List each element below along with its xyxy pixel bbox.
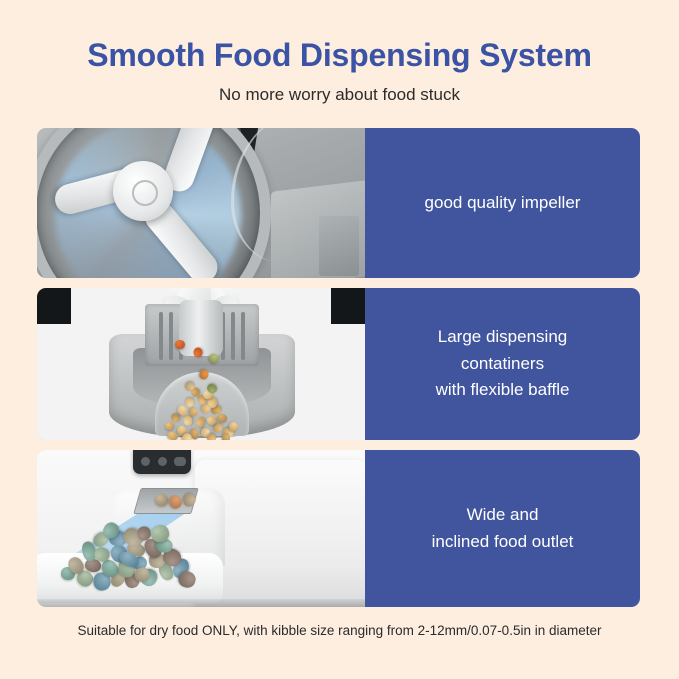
feature-caption-text: Large dispensing contatiners with flexib… — [436, 324, 570, 403]
kibble-piece — [216, 413, 227, 423]
feature-caption-panel: Wide and inclined food outlet — [365, 450, 640, 607]
feature-card-list: good quality impeller Large dis — [37, 128, 640, 617]
dark-corner-shape — [331, 288, 365, 324]
kibble-pile — [161, 388, 243, 440]
header: Smooth Food Dispensing System No more wo… — [0, 0, 679, 106]
center-cylinder-shape — [179, 300, 223, 356]
housing-panel-secondary-shape — [319, 216, 359, 276]
base-shadow — [37, 599, 365, 607]
feature-caption-text: Wide and inclined food outlet — [432, 502, 574, 555]
kibble-piece — [165, 422, 174, 430]
footer-note: Suitable for dry food ONLY, with kibble … — [0, 622, 679, 640]
dispensing-container-photo — [37, 288, 365, 440]
feature-card: Wide and inclined food outlet — [37, 450, 640, 607]
impeller-hub — [113, 161, 173, 221]
feature-caption-text: good quality impeller — [425, 190, 581, 216]
infographic-page: Smooth Food Dispensing System No more wo… — [0, 0, 679, 679]
kibble-piece — [222, 433, 231, 440]
chute-kibble-piece — [155, 494, 168, 506]
dark-corner-shape — [37, 288, 71, 324]
feature-caption-panel: good quality impeller — [365, 128, 640, 278]
feature-card: Large dispensing contatiners with flexib… — [37, 288, 640, 440]
kibble-piece — [189, 407, 198, 417]
impeller-photo — [37, 128, 365, 278]
control-panel-icon — [133, 450, 191, 474]
kibble-piece — [206, 433, 216, 440]
page-title: Smooth Food Dispensing System — [0, 38, 679, 73]
feature-card: good quality impeller — [37, 128, 640, 278]
food-outlet-photo — [37, 450, 365, 607]
feature-caption-panel: Large dispensing contatiners with flexib… — [365, 288, 640, 440]
falling-kibble-piece — [175, 340, 185, 349]
kibble-pile — [59, 523, 209, 589]
page-subtitle: No more worry about food stuck — [0, 85, 679, 105]
